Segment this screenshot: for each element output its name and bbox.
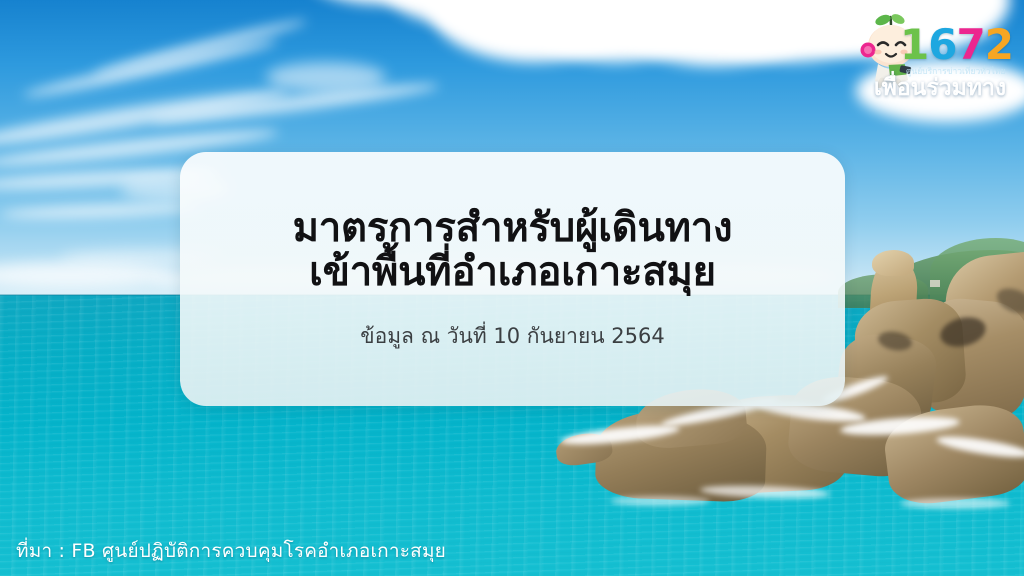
sea-foam xyxy=(900,498,1010,509)
cumulus-cloud xyxy=(266,62,386,92)
title-line-2: เข้าพื้นที่อำเภอเกาะสมุย xyxy=(293,250,733,294)
logo-digit-7: 7 xyxy=(956,20,984,69)
title-card: มาตรการสำหรับผู้เดินทาง เข้าพื้นที่อำเภอ… xyxy=(180,152,845,406)
source-credit: ที่มา : FB ศูนย์ปฏิบัติการควบคุมโรคอำเภอ… xyxy=(16,536,446,566)
logo-subtitle: เพื่อนร่วมทาง xyxy=(862,70,1018,106)
title-subtitle: ข้อมูล ณ วันที่ 10 กันยายน 2564 xyxy=(360,320,665,353)
pillar-rock-cap xyxy=(872,250,914,276)
logo-digit-2: 2 xyxy=(985,20,1013,69)
distant-building xyxy=(930,280,940,287)
logo-number: 1672 xyxy=(900,24,1013,66)
title-line-1: มาตรการสำหรับผู้เดินทาง xyxy=(293,205,733,251)
poster-canvas: มาตรการสำหรับผู้เดินทาง เข้าพื้นที่อำเภอ… xyxy=(0,0,1024,576)
logo-digit-1: 1 xyxy=(900,20,928,69)
page-title: มาตรการสำหรับผู้เดินทาง เข้าพื้นที่อำเภอ… xyxy=(293,206,733,294)
logo-digit-6: 6 xyxy=(928,20,956,69)
sea-foam xyxy=(610,496,710,506)
logo-1672[interactable]: 1672 ศูนย์บริการข่าวเที่ยวทั่วไทย เพื่อน… xyxy=(858,8,1018,104)
